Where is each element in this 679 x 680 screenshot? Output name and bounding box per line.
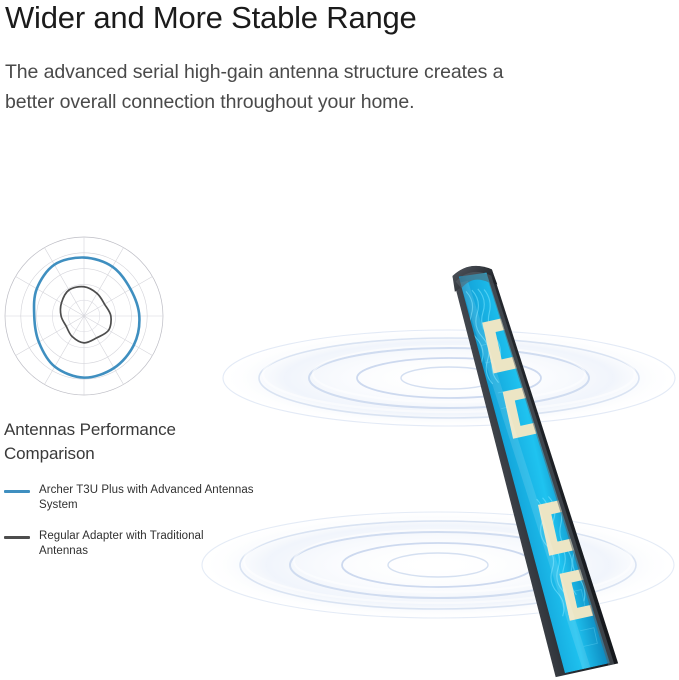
legend-item-label: Regular Adapter with Traditional Antenna… bbox=[39, 529, 254, 559]
antenna-pcb bbox=[445, 252, 625, 680]
radar-chart bbox=[0, 232, 172, 404]
legend-swatch-icon bbox=[4, 490, 30, 493]
legend-item: Regular Adapter with Traditional Antenna… bbox=[4, 529, 254, 559]
antenna-device-image bbox=[370, 240, 679, 680]
page-subtitle: The advanced serial high-gain antenna st… bbox=[5, 57, 535, 117]
legend-item-label: Archer T3U Plus with Advanced Antennas S… bbox=[39, 483, 254, 513]
page-title: Wider and More Stable Range bbox=[5, 0, 625, 38]
antenna-rim bbox=[454, 260, 614, 679]
signal-ripple-bottom bbox=[196, 500, 679, 630]
antenna-cap bbox=[450, 262, 497, 294]
legend-swatch-icon bbox=[4, 536, 30, 539]
antenna-trace-lower bbox=[538, 498, 593, 622]
antenna-shell bbox=[451, 254, 618, 680]
antenna-body bbox=[445, 252, 625, 680]
chart-caption: Antennas Performance Comparison bbox=[4, 418, 254, 466]
antenna-trace-upper bbox=[482, 316, 536, 439]
chart-legend: Archer T3U Plus with Advanced Antennas S… bbox=[4, 483, 254, 575]
legend-item: Archer T3U Plus with Advanced Antennas S… bbox=[4, 483, 254, 513]
signal-ripple-top bbox=[218, 318, 679, 438]
